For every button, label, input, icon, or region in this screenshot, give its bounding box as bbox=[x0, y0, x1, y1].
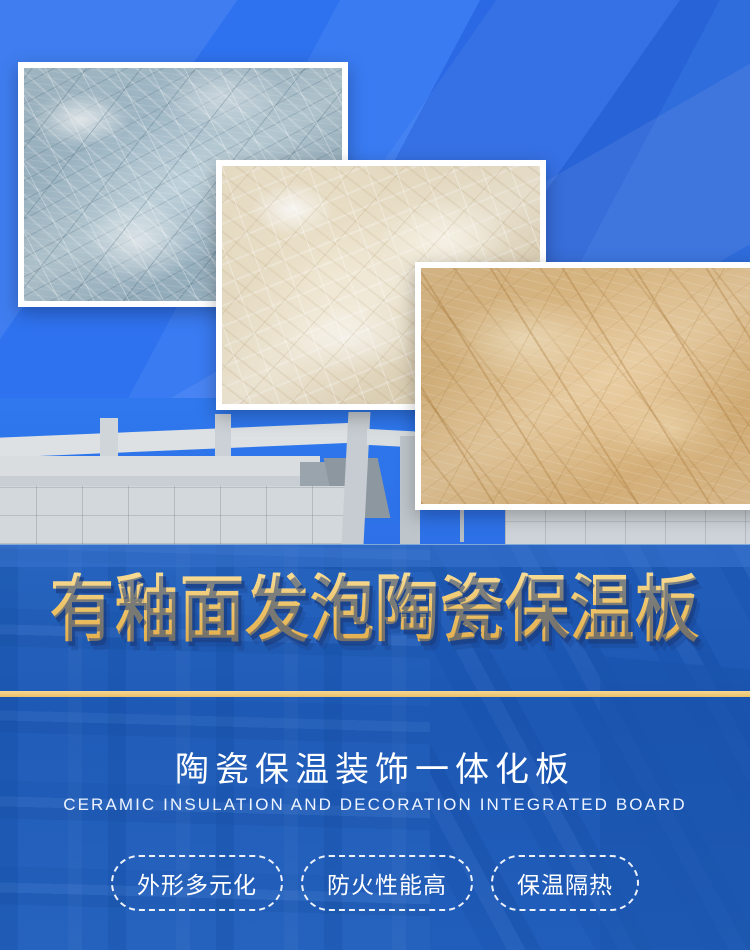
subtitle-english: CERAMIC INSULATION AND DECORATION INTEGR… bbox=[0, 795, 750, 815]
tan-marble-tile[interactable] bbox=[415, 262, 750, 510]
wash-top-strip bbox=[0, 545, 750, 567]
gold-divider bbox=[0, 691, 750, 697]
feature-pill-3[interactable]: 保温隔热 bbox=[491, 855, 639, 911]
building-column-b bbox=[215, 414, 231, 458]
feature-pill-list: 外形多元化 防火性能高 保温隔热 bbox=[0, 855, 750, 911]
building-parapet bbox=[0, 456, 320, 476]
building-panel-grid bbox=[0, 486, 350, 544]
tile-texture bbox=[421, 268, 750, 504]
subtitle-chinese: 陶瓷保温装饰一体化板 bbox=[0, 742, 750, 791]
headline: 有釉面发泡陶瓷保温板 bbox=[0, 577, 750, 641]
promo-banner: 有釉面发泡陶瓷保温板 陶瓷保温装饰一体化板 CERAMIC INSULATION… bbox=[0, 0, 750, 950]
feature-pill-1[interactable]: 外形多元化 bbox=[111, 855, 283, 911]
feature-pill-2[interactable]: 防火性能高 bbox=[301, 855, 473, 911]
headline-text: 有釉面发泡陶瓷保温板 bbox=[50, 573, 700, 646]
building-column-a bbox=[100, 418, 118, 458]
